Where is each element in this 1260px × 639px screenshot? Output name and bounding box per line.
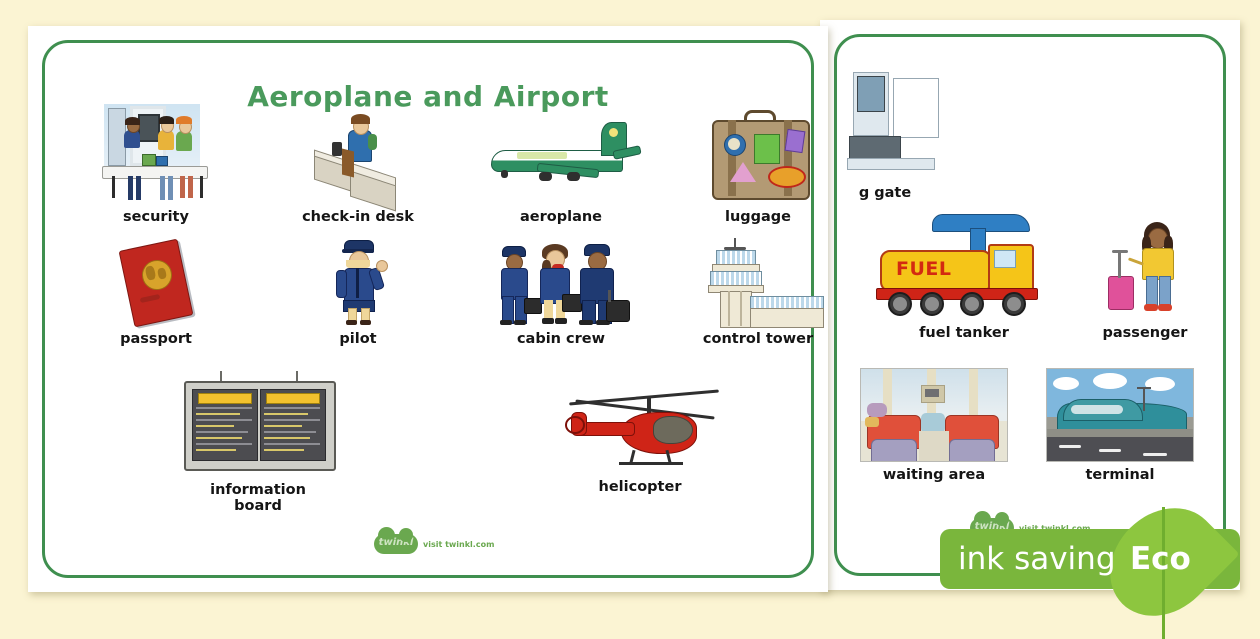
word-label: luggage: [668, 209, 848, 225]
twinkl-cloud-icon: twinkl: [374, 534, 418, 554]
word-label: pilot: [268, 331, 448, 347]
terminal-photo: [1046, 368, 1194, 462]
word-label: security: [66, 209, 246, 225]
word-label: passenger: [1070, 325, 1220, 341]
worksheet-page-1: Aeroplane and Airport: [28, 26, 828, 592]
word-label: information board: [158, 482, 358, 514]
word-label: passport: [66, 331, 246, 347]
control-tower-image: [690, 238, 826, 326]
suitcase-image: [700, 104, 816, 204]
word-card-passport: passport: [66, 238, 246, 347]
aeroplane-image: [481, 104, 641, 204]
passenger-image: [1090, 220, 1200, 320]
word-label: check-in desk: [268, 209, 448, 225]
information-board-image: [178, 371, 338, 477]
word-card-control-tower: control tower: [668, 238, 848, 347]
word-label: helicopter: [540, 479, 740, 495]
word-card-aeroplane: aeroplane: [466, 104, 656, 225]
word-card-check-in-desk: check-in desk: [268, 104, 448, 225]
waiting-area-photo: [860, 368, 1008, 462]
ink-saving-eco-badge: ink saving Eco: [940, 529, 1260, 591]
twinkl-logo: twinkl visit twinkl.com: [374, 534, 494, 554]
helicopter-image: [555, 378, 725, 474]
ink-saving-label: ink saving: [958, 529, 1116, 589]
word-card-passenger: passenger: [1070, 220, 1220, 341]
word-card-helicopter: helicopter: [540, 378, 740, 495]
screenshot-root: g gate FUEL fuel tanker: [0, 0, 1260, 630]
twinkl-wordmark: twinkl: [374, 537, 418, 548]
word-card-security: security: [66, 104, 246, 225]
word-card-cabin-crew: cabin crew: [466, 238, 656, 347]
word-card-waiting-area: waiting area: [844, 368, 1024, 483]
twinkl-visit-text: visit twinkl.com: [423, 540, 494, 549]
word-label: terminal: [1030, 467, 1210, 483]
eco-label: Eco: [1130, 529, 1191, 589]
word-label: cabin crew: [466, 331, 656, 347]
worksheet-page-2: g gate FUEL fuel tanker: [820, 20, 1240, 590]
passport-image: [104, 238, 208, 326]
fuel-tanker-image: FUEL: [874, 220, 1054, 320]
word-label: aeroplane: [466, 209, 656, 225]
word-card-luggage: luggage: [668, 104, 848, 225]
pilot-image: [306, 238, 410, 326]
word-card-terminal: terminal: [1030, 368, 1210, 483]
word-card-fuel-tanker: FUEL fuel tanker: [864, 220, 1064, 341]
word-label: fuel tanker: [864, 325, 1064, 341]
word-card-pilot: pilot: [268, 238, 448, 347]
word-card-information-board: information board: [158, 371, 358, 514]
security-scene-image: [104, 104, 208, 204]
cabin-crew-image: [486, 238, 636, 326]
word-label: control tower: [668, 331, 848, 347]
check-in-desk-image: [306, 104, 410, 204]
fuel-text: FUEL: [896, 258, 952, 280]
word-label: waiting area: [844, 467, 1024, 483]
